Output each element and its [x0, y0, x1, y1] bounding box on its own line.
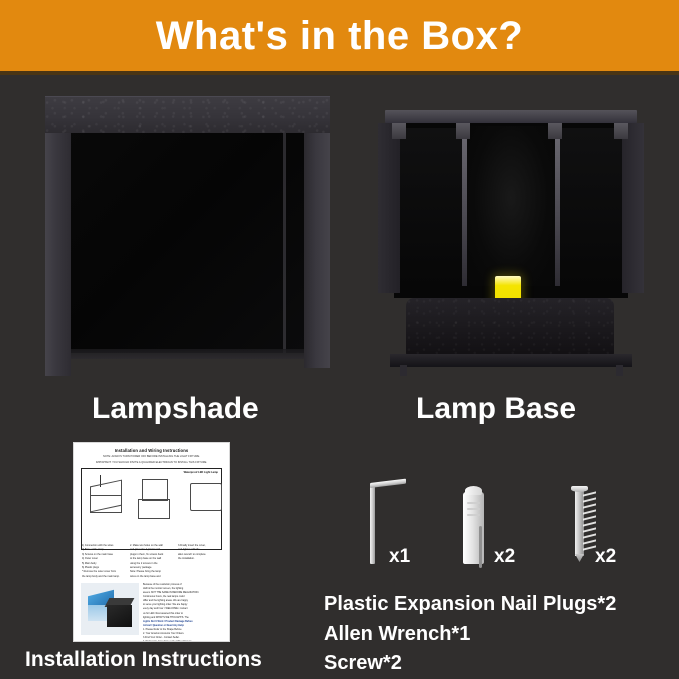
- instruction-sheet-caption: Installation Instructions: [25, 648, 262, 672]
- lampshade-cavity: [67, 127, 307, 353]
- screw-thread: [583, 509, 596, 514]
- step-line: the lamp body and the main lamp.: [82, 575, 125, 579]
- screw-thread: [583, 527, 596, 532]
- header-banner: What's in the Box?: [0, 0, 679, 71]
- lamp-base-rail-left: [462, 126, 467, 286]
- product-box-photo: [81, 583, 139, 635]
- screw-tip: [575, 554, 584, 562]
- screw-thread: [583, 503, 596, 508]
- instruction-note-1: NOTE: ALWAYS TURN POWER OFF BEFORE INSTA…: [81, 455, 222, 459]
- instruction-photo-row: Because of the resolution process of LED…: [81, 583, 222, 635]
- lamp-base-mount-block: [406, 298, 614, 356]
- diagram-step2-cube: [142, 479, 168, 501]
- lamp-base-top-rail: [385, 110, 637, 123]
- lamp-base-panel-right: [560, 128, 622, 286]
- lamp-base-panel-left: [400, 128, 462, 286]
- allen-wrench-count: x1: [389, 546, 410, 568]
- screw-thread: [583, 521, 596, 526]
- lamp-base-block-texture: [406, 298, 614, 356]
- plug-body: [463, 492, 484, 564]
- instruction-photo-text: Because of the resolution process of LED…: [143, 583, 222, 635]
- instruction-sheet-content: Installation and Wiring Instructions NOT…: [74, 443, 229, 641]
- lamp-base-center-chamber: [467, 126, 555, 286]
- screw-shaft: [575, 490, 584, 556]
- screw-thread: [583, 491, 596, 496]
- lamp-base-product-image: [378, 110, 644, 378]
- lampshade-right-post: [304, 126, 330, 368]
- lamp-base-rail-right: [555, 126, 560, 286]
- lampshade-frame: [45, 96, 330, 376]
- lamp-base-caption: Lamp Base: [416, 392, 576, 426]
- photo-text-line: 4. We'll make immediate reply within 24 …: [143, 640, 222, 641]
- step-line: wires on the lamp base and: [130, 575, 173, 579]
- page-title: What's in the Box?: [156, 16, 523, 56]
- steps-column-right: 3.Finally insert the cover, and tighten …: [178, 544, 221, 579]
- instruction-diagram-panel: Waterproof LED Light Lamp: [81, 468, 222, 550]
- accessory-list-item: Plastic Expansion Nail Plugs*2: [324, 590, 616, 620]
- black-cube-front: [107, 605, 132, 627]
- lamp-base-right-wing: [622, 123, 644, 293]
- screw-thread: [583, 515, 596, 520]
- instruction-sheet-title: Installation and Wiring Instructions: [81, 448, 222, 453]
- lamp-base-mount-plate: [390, 354, 632, 367]
- diagram-step2-base: [138, 499, 170, 519]
- wrench-long-arm: [370, 486, 375, 564]
- accessory-list: Plastic Expansion Nail Plugs*2 Allen Wre…: [324, 590, 616, 679]
- accessory-list-item: Allen Wrench*1: [324, 620, 616, 650]
- step-line: the installation.: [178, 557, 221, 561]
- instruction-note-2: IMPORTANT: YOU SHOULD INVITE A QUALIFIED…: [81, 461, 222, 465]
- wall-plug-anchor-icon: [456, 484, 492, 566]
- lampshade-bottom-lip: [67, 349, 305, 359]
- lampshade-caption: Lampshade: [92, 392, 259, 426]
- plug-rib: [473, 508, 480, 510]
- diagram-step3-cube: [190, 483, 222, 511]
- lampshade-texture: [45, 97, 330, 133]
- lampshade-left-post: [45, 126, 71, 376]
- lampshade-inner-edge: [283, 127, 286, 353]
- lamp-base-left-wing: [378, 123, 400, 293]
- lamp-base-post-1: [392, 123, 406, 139]
- screw-count: x2: [595, 546, 616, 568]
- diagram-step1-base: [90, 495, 122, 513]
- lamp-base-post-4: [614, 123, 628, 139]
- steps-column-middle: 2. Make two holes on the wall and place …: [130, 544, 173, 579]
- whats-in-the-box-infographic: What's in the Box?: [0, 0, 679, 679]
- instruction-steps: 1) Connection with the wires 2) Base of …: [82, 544, 221, 579]
- lampshade-product-image: [45, 96, 330, 376]
- lamp-base-foot-right: [616, 365, 623, 376]
- header-divider: [0, 71, 679, 75]
- accessory-list-item: Screw*2: [324, 649, 616, 679]
- steps-column-left: 1) Connection with the wires 2) Base of …: [82, 544, 125, 579]
- plug-head: [465, 486, 482, 495]
- screw-thread: [583, 497, 596, 502]
- lamp-base-foot-left: [400, 365, 407, 376]
- plug-rib: [473, 502, 480, 504]
- lamp-base-post-3: [548, 123, 562, 139]
- plug-rib: [473, 514, 480, 516]
- instruction-sheet-image: Installation and Wiring Instructions NOT…: [74, 443, 229, 641]
- screw-icon: [565, 484, 595, 566]
- screw-head: [571, 486, 588, 492]
- plug-expansion-slot: [479, 526, 482, 568]
- wrench-short-arm: [370, 479, 406, 488]
- wall-plug-count: x2: [494, 546, 515, 568]
- screw-thread: [583, 533, 596, 538]
- screw-thread: [583, 539, 596, 544]
- lampshade-top-bar: [45, 96, 330, 133]
- lamp-base-post-2: [456, 123, 470, 139]
- diagram-label: Waterproof LED Light Lamp: [184, 471, 218, 474]
